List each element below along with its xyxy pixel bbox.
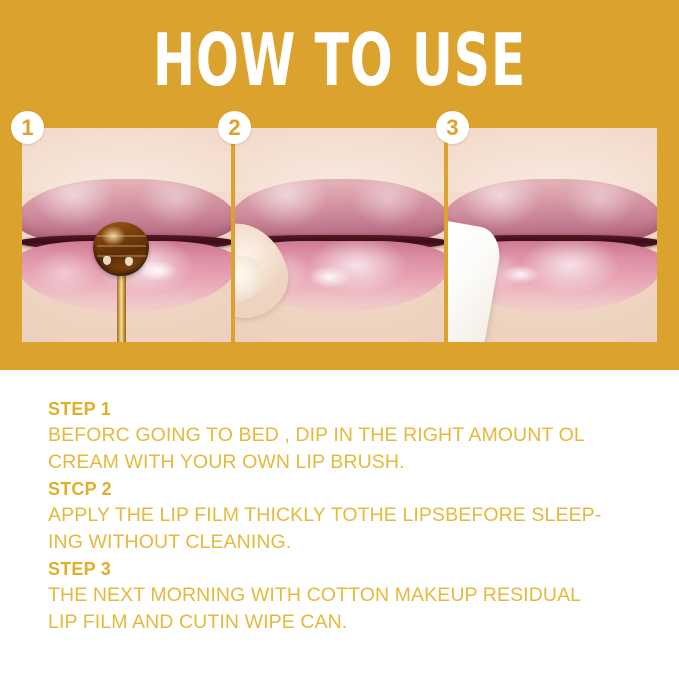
- instruction-step-2: STCP 2 APPLY THE LIP FILM THICKLY TOTHE …: [48, 476, 648, 556]
- step-photo-1: [22, 128, 231, 342]
- step-badge-2: 2: [218, 111, 251, 144]
- step-1-heading: STEP 1: [48, 396, 648, 422]
- how-to-use-photo-strip: [22, 128, 657, 342]
- instructions-block: STEP 1 BEFORC GOING TO BED , DIP IN THE …: [48, 396, 648, 636]
- applicator-highlight: [103, 256, 111, 265]
- step-badge-3: 3: [436, 111, 469, 144]
- step-1-line-1: BEFORC GOING TO BED , DIP IN THE RIGHT A…: [48, 422, 648, 449]
- step-photo-3: [448, 128, 657, 342]
- applicator-groove: [97, 235, 146, 237]
- step-2-line-1: APPLY THE LIP FILM THICKLY TOTHE LIPSBEF…: [48, 502, 648, 529]
- step-3-heading: STEP 3: [48, 556, 648, 582]
- applicator-groove: [97, 245, 146, 247]
- step-2-line-2: ING WITHOUT CLEANING.: [48, 529, 648, 556]
- fingernail: [235, 251, 267, 306]
- step-photo-2: [235, 128, 444, 342]
- step-3-line-1: THE NEXT MORNING WITH COTTON MAKEUP RESI…: [48, 582, 648, 609]
- instruction-step-3: STEP 3 THE NEXT MORNING WITH COTTON MAKE…: [48, 556, 648, 636]
- step-1-line-2: CREAM WITH YOUR OWN LIP BRUSH.: [48, 449, 648, 476]
- page-title: HOW TO USE: [75, 24, 605, 96]
- step-3-line-2: LIP FILM AND CUTIN WIPE CAN.: [48, 609, 648, 636]
- step-2-heading: STCP 2: [48, 476, 648, 502]
- applicator-highlight: [125, 257, 133, 266]
- instruction-step-1: STEP 1 BEFORC GOING TO BED , DIP IN THE …: [48, 396, 648, 476]
- step-badge-1: 1: [11, 111, 44, 144]
